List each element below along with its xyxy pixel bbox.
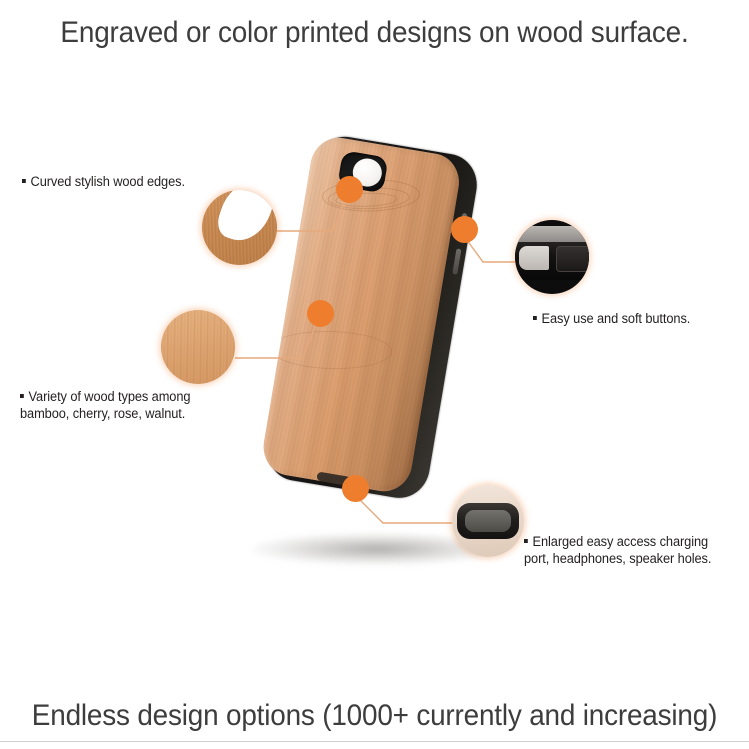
- callout-label-line: port, headphones, speaker holes.: [524, 550, 711, 567]
- wood-grain-texture: [161, 310, 235, 384]
- callout-bubble-curved-edges: [202, 190, 277, 265]
- callout-label-text: Enlarged easy access charging: [533, 534, 708, 549]
- hotspot-wood-types[interactable]: [307, 300, 334, 327]
- callout-label-charging-port: Enlarged easy access charging port, head…: [524, 533, 711, 567]
- callout-label-curved-edges: Curved stylish wood edges.: [22, 173, 185, 190]
- bullet-icon: [533, 316, 537, 320]
- wood-grain-swirl: [270, 329, 393, 370]
- bottom-divider: [0, 741, 749, 742]
- callout-label-text: Easy use and soft buttons.: [542, 311, 691, 326]
- callout-bubble-wood-types: [161, 310, 235, 384]
- hotspot-soft-buttons[interactable]: [451, 216, 478, 243]
- callout-label-text: Curved stylish wood edges.: [31, 174, 185, 189]
- callout-bubble-soft-buttons: [515, 220, 589, 294]
- callout-label-line: bamboo, cherry, rose, walnut.: [20, 405, 190, 422]
- soft-button-light: [519, 246, 549, 270]
- callout-bubble-charging-port: [452, 485, 524, 557]
- soft-button-dark: [556, 246, 589, 272]
- hotspot-charging-port[interactable]: [342, 475, 369, 502]
- bullet-icon: [524, 539, 528, 543]
- product-infographic: Engraved or color printed designs on woo…: [0, 0, 749, 749]
- callout-label-line: Variety of wood types among: [20, 388, 190, 405]
- callout-label-soft-buttons: Easy use and soft buttons.: [533, 310, 690, 327]
- port-opening: [465, 510, 511, 532]
- bullet-icon: [22, 179, 26, 183]
- footer-tagline: Endless design options (1000+ currently …: [26, 697, 723, 735]
- bullet-icon: [20, 394, 24, 398]
- callout-label-text: Variety of wood types among: [29, 389, 191, 404]
- callout-label-line: Enlarged easy access charging: [524, 533, 711, 550]
- callout-label-wood-types: Variety of wood types among bamboo, cher…: [20, 388, 190, 422]
- case-top-surface: [515, 226, 589, 242]
- hotspot-curved-edges[interactable]: [336, 176, 363, 203]
- phone-case-product-image: [258, 132, 481, 503]
- page-title: Engraved or color printed designs on woo…: [26, 14, 723, 52]
